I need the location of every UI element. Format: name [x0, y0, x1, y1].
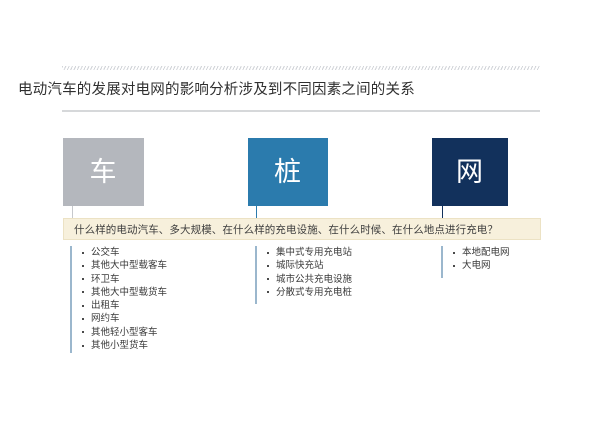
category-lists: 公交车 其他大中型载客车 环卫车 其他大中型载货车 出租车 网约车 其他轻小型客… — [0, 246, 600, 366]
list-item: 环卫车 — [80, 273, 245, 286]
top-decorative-rule — [62, 66, 540, 70]
list-item: 大电网 — [451, 259, 561, 272]
list-item: 本地配电网 — [451, 246, 561, 259]
list-item: 城际快充站 — [265, 259, 430, 272]
title-underline-rule — [62, 110, 540, 112]
list-pile: 集中式专用充电站 城际快充站 城市公共充电设施 分散式专用充电桩 — [265, 246, 430, 299]
list-item: 公交车 — [80, 246, 245, 259]
category-box-grid-label: 网 — [456, 159, 484, 186]
list-column-grid: 本地配电网 大电网 — [441, 246, 561, 278]
list-item: 出租车 — [80, 299, 245, 312]
category-box-pile-label: 桩 — [274, 159, 302, 186]
list-item: 网约车 — [80, 312, 245, 325]
category-box-car-label: 车 — [90, 159, 118, 186]
page-title: 电动汽车的发展对电网的影响分析涉及到不同因素之间的关系 — [18, 80, 578, 100]
category-box-pile[interactable]: 桩 — [248, 138, 328, 206]
list-car: 公交车 其他大中型载客车 环卫车 其他大中型载货车 出租车 网约车 其他轻小型客… — [80, 246, 245, 352]
category-box-car[interactable]: 车 — [63, 138, 144, 206]
list-item: 其他大中型载客车 — [80, 259, 245, 272]
list-grid: 本地配电网 大电网 — [451, 246, 561, 273]
slide-canvas: 电动汽车的发展对电网的影响分析涉及到不同因素之间的关系 车 桩 网 什么样的电动… — [0, 0, 600, 423]
question-banner: 什么样的电动汽车、多大规模、在什么样的充电设施、在什么时候、在什么地点进行充电？ — [63, 218, 541, 240]
list-item: 分散式专用充电桩 — [265, 286, 430, 299]
list-item: 其他轻小型客车 — [80, 326, 245, 339]
list-column-pile: 集中式专用充电站 城际快充站 城市公共充电设施 分散式专用充电桩 — [255, 246, 430, 304]
list-item: 其他小型货车 — [80, 339, 245, 352]
list-column-car: 公交车 其他大中型载客车 环卫车 其他大中型载货车 出租车 网约车 其他轻小型客… — [70, 246, 245, 353]
list-item: 城市公共充电设施 — [265, 273, 430, 286]
question-banner-text: 什么样的电动汽车、多大规模、在什么样的充电设施、在什么时候、在什么地点进行充电？ — [64, 222, 498, 237]
list-item: 集中式专用充电站 — [265, 246, 430, 259]
list-item: 其他大中型载货车 — [80, 286, 245, 299]
category-box-grid[interactable]: 网 — [432, 138, 508, 206]
